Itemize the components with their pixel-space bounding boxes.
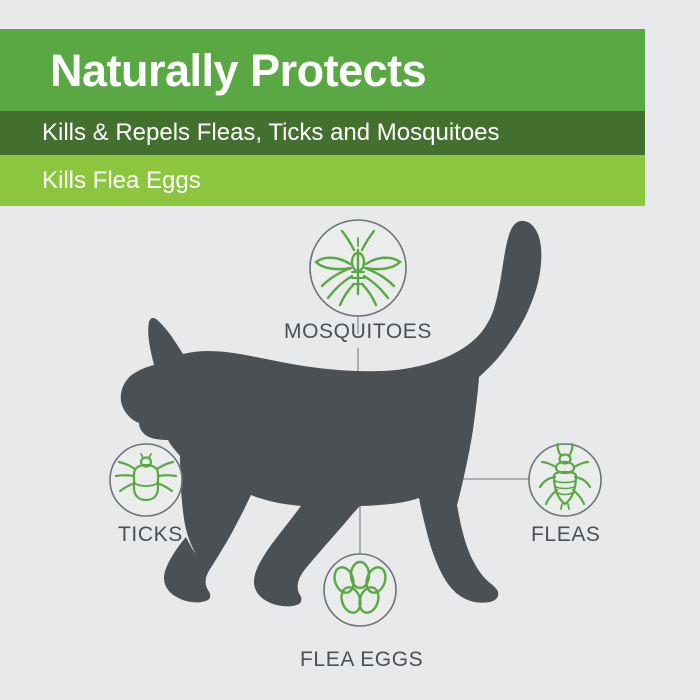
node-ticks[interactable] bbox=[110, 444, 182, 516]
node-label-flea-eggs: FLEA EGGS bbox=[300, 649, 423, 670]
subhead-kills-repels: Kills & Repels Fleas, Ticks and Mosquito… bbox=[42, 121, 500, 145]
ticks-circle[interactable] bbox=[110, 444, 182, 516]
subhead-kills-flea-eggs: Kills Flea Eggs bbox=[42, 169, 201, 193]
subhead-band-secondary: Kills Flea Eggs bbox=[0, 155, 645, 206]
flea-eggs-circle[interactable] bbox=[324, 554, 396, 626]
node-label-mosquitoes: MOSQUITOES bbox=[284, 321, 432, 342]
pest-coverage-diagram: MOSQUITOES TICKS FLEAS FLEA EGGS bbox=[0, 206, 700, 700]
node-label-ticks: TICKS bbox=[118, 524, 183, 545]
subhead-band-primary: Kills & Repels Fleas, Ticks and Mosquito… bbox=[0, 111, 645, 155]
node-fleas[interactable] bbox=[529, 444, 601, 516]
page-title: Naturally Protects bbox=[50, 48, 426, 93]
header-band-stack: Naturally Protects Kills & Repels Fleas,… bbox=[0, 29, 645, 206]
node-flea-eggs[interactable] bbox=[324, 554, 396, 626]
node-label-fleas: FLEAS bbox=[531, 524, 601, 545]
product-benefits-infographic: Naturally Protects Kills & Repels Fleas,… bbox=[0, 0, 700, 700]
headline-band: Naturally Protects bbox=[0, 29, 645, 111]
node-mosquitoes[interactable] bbox=[310, 220, 406, 316]
diagram-canvas bbox=[0, 206, 700, 700]
